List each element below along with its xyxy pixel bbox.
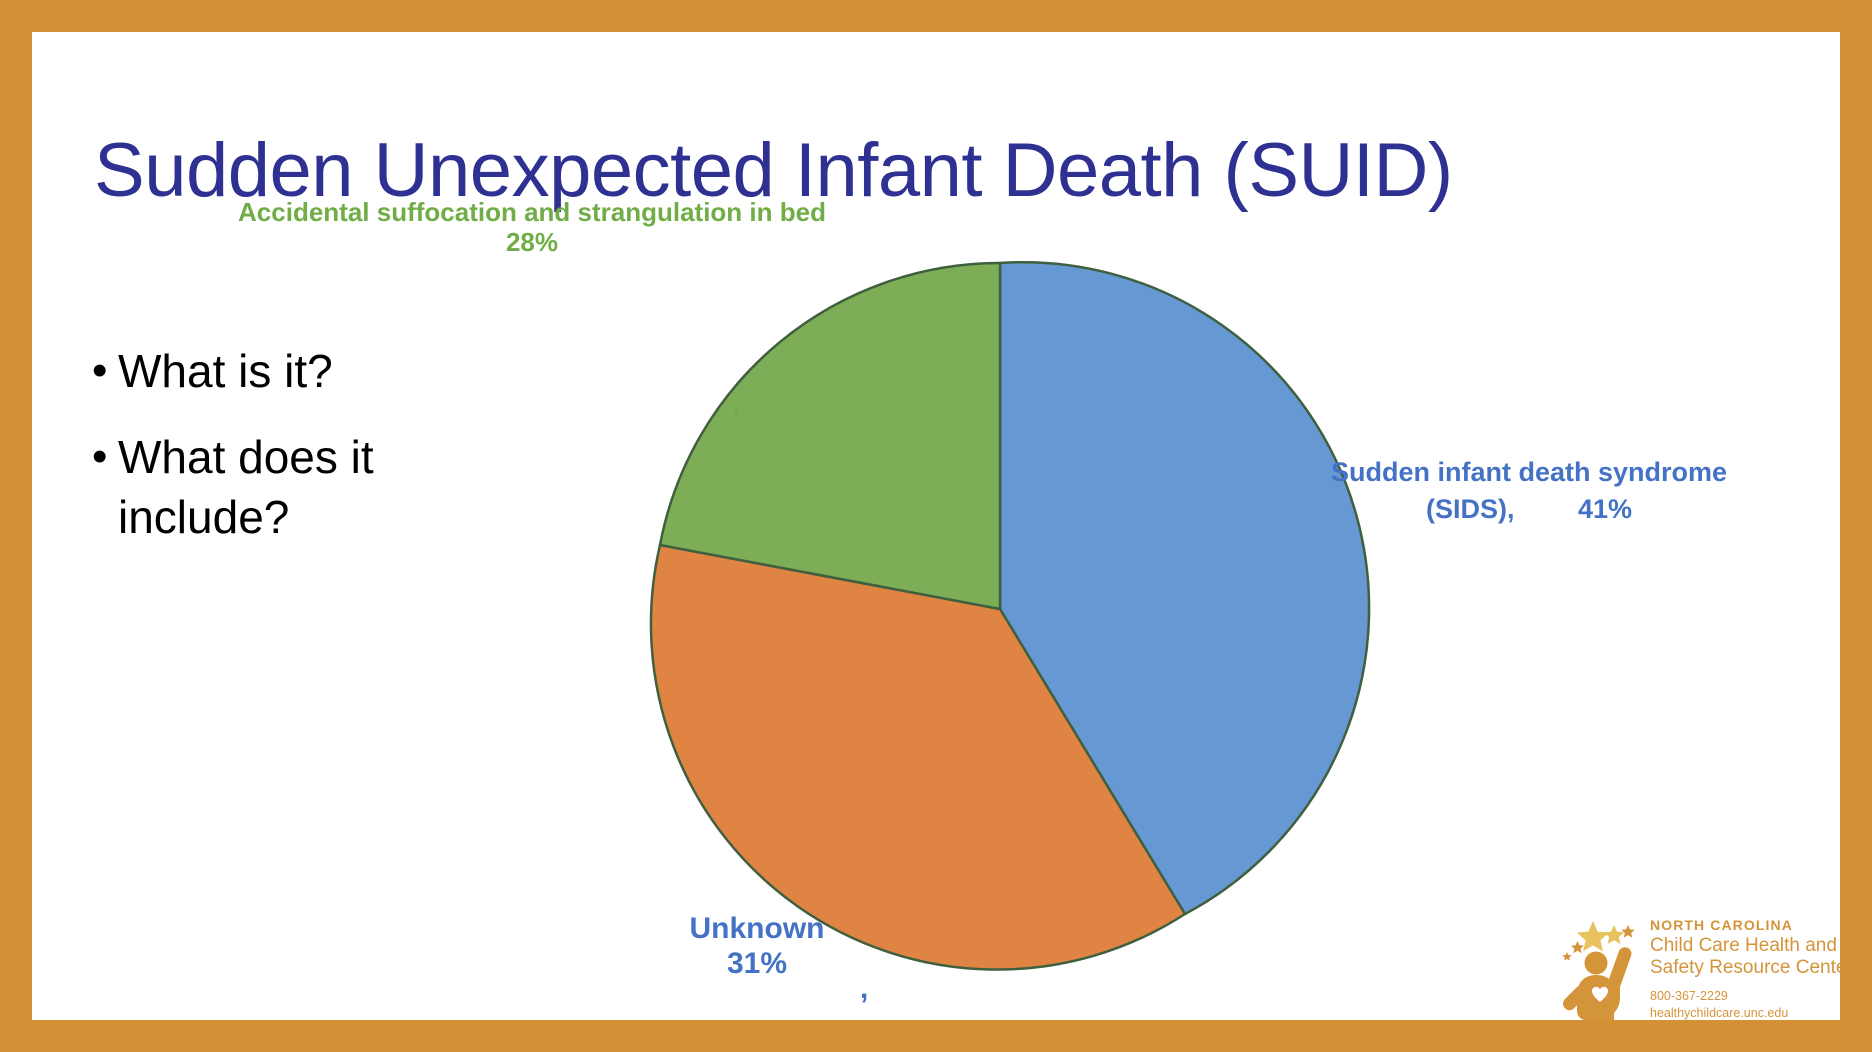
list-item: • What does it include? bbox=[92, 428, 522, 548]
pie-label-unknown-percent: 31% bbox=[592, 947, 922, 982]
logo-org-name-line2: Safety Resource Center bbox=[1650, 957, 1840, 979]
bullet-marker-icon: • bbox=[92, 342, 118, 399]
pie-label-suffocation-name: Accidental suffocation and strangulation… bbox=[238, 197, 826, 227]
child-star-logo-svg bbox=[1562, 917, 1644, 1020]
slide-frame: Sudden Unexpected Infant Death (SUID) • … bbox=[0, 0, 1872, 1052]
logo-org-name: Child Care Health and Safety Resource Ce… bbox=[1650, 935, 1840, 979]
pie-label-sids-name-line2: (SIDS), bbox=[1426, 494, 1515, 524]
pie-label-sids-name-line1: Sudden infant death syndrome bbox=[1331, 457, 1727, 487]
child-star-logo-icon bbox=[1562, 917, 1644, 1020]
bullet-text: What is it? bbox=[118, 342, 522, 402]
logo-text-block: NORTH CAROLINA Child Care Health and Saf… bbox=[1644, 917, 1840, 1020]
logo-org-name-line1: Child Care Health and bbox=[1650, 935, 1840, 957]
bullet-marker-icon: • bbox=[92, 428, 118, 485]
organization-logo: NORTH CAROLINA Child Care Health and Saf… bbox=[1562, 917, 1840, 1020]
list-item: • What is it? bbox=[92, 342, 522, 402]
pie-label-sids-percent: 41% bbox=[1578, 494, 1632, 525]
logo-website[interactable]: healthychildcare.unc.edu bbox=[1650, 1005, 1840, 1020]
pie-label-suffocation-percent: 28% bbox=[182, 227, 882, 257]
pie-label-unknown: Unknown 31% bbox=[592, 912, 922, 982]
bullet-text: What does it include? bbox=[118, 428, 522, 548]
bullet-list: • What is it? • What does it include? bbox=[92, 342, 522, 573]
pie-label-sids: Sudden infant death syndrome (SIDS), 41% bbox=[1294, 457, 1764, 526]
slide-canvas: Sudden Unexpected Infant Death (SUID) • … bbox=[32, 32, 1840, 1020]
pie-label-suffocation: Accidental suffocation and strangulation… bbox=[182, 197, 882, 257]
pie-label-suffocation-comma: , bbox=[732, 384, 740, 419]
pie-label-unknown-name: Unknown bbox=[690, 912, 825, 945]
logo-contact-block: 800-367-2229 healthychildcare.unc.edu bbox=[1650, 988, 1840, 1020]
logo-phone: 800-367-2229 bbox=[1650, 988, 1840, 1005]
logo-state-label: NORTH CAROLINA bbox=[1650, 917, 1840, 933]
pie-label-sids-line2: (SIDS), 41% bbox=[1294, 494, 1764, 525]
